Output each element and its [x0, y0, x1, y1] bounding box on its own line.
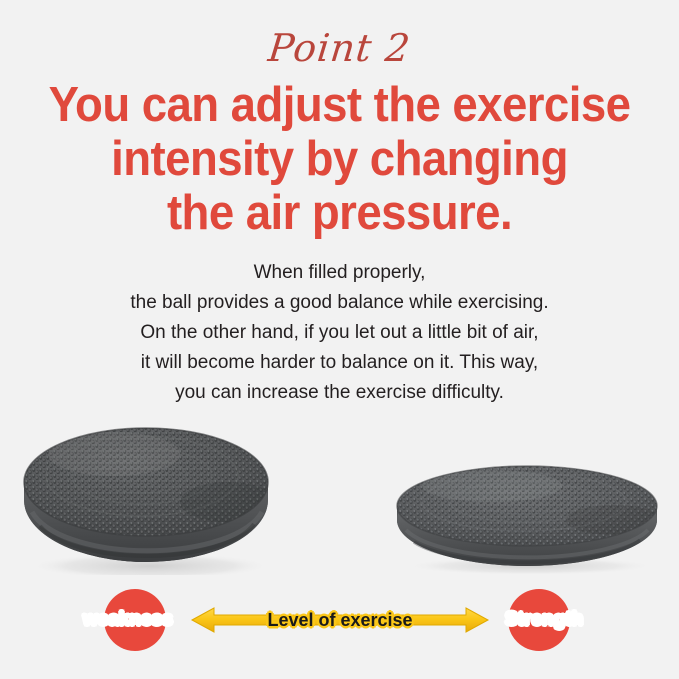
body-line-3: On the other hand, if you let out a litt…: [0, 318, 679, 348]
poster-canvas: Point 2 You can adjust the exercise inte…: [0, 0, 679, 679]
body-line-5: you can increase the exercise difficulty…: [0, 378, 679, 408]
scale-label-strength-text: Strength: [505, 609, 583, 630]
scale-label-strength: Strength: [505, 603, 583, 637]
balance-disc-inflated-image: [18, 420, 274, 575]
scale-arrow-label: Level of exercise: [190, 606, 490, 634]
headline-line-2: intensity by changing: [24, 132, 655, 186]
body-line-2: the ball provides a good balance while e…: [0, 288, 679, 318]
page-title: You can adjust the exercise intensity by…: [24, 78, 655, 240]
body-paragraph: When filled properly, the ball provides …: [0, 258, 679, 408]
headline-line-3: the air pressure.: [24, 186, 655, 240]
eyebrow-point-label: Point 2: [0, 26, 679, 70]
headline-line-1: You can adjust the exercise: [24, 78, 655, 132]
body-line-1: When filled properly,: [0, 258, 679, 288]
scale-label-weakness-text: weakness: [83, 609, 173, 630]
balance-disc-deflated-image: [392, 462, 662, 575]
scale-label-weakness: weakness: [83, 603, 173, 637]
body-line-4: it will become harder to balance on it. …: [0, 348, 679, 378]
